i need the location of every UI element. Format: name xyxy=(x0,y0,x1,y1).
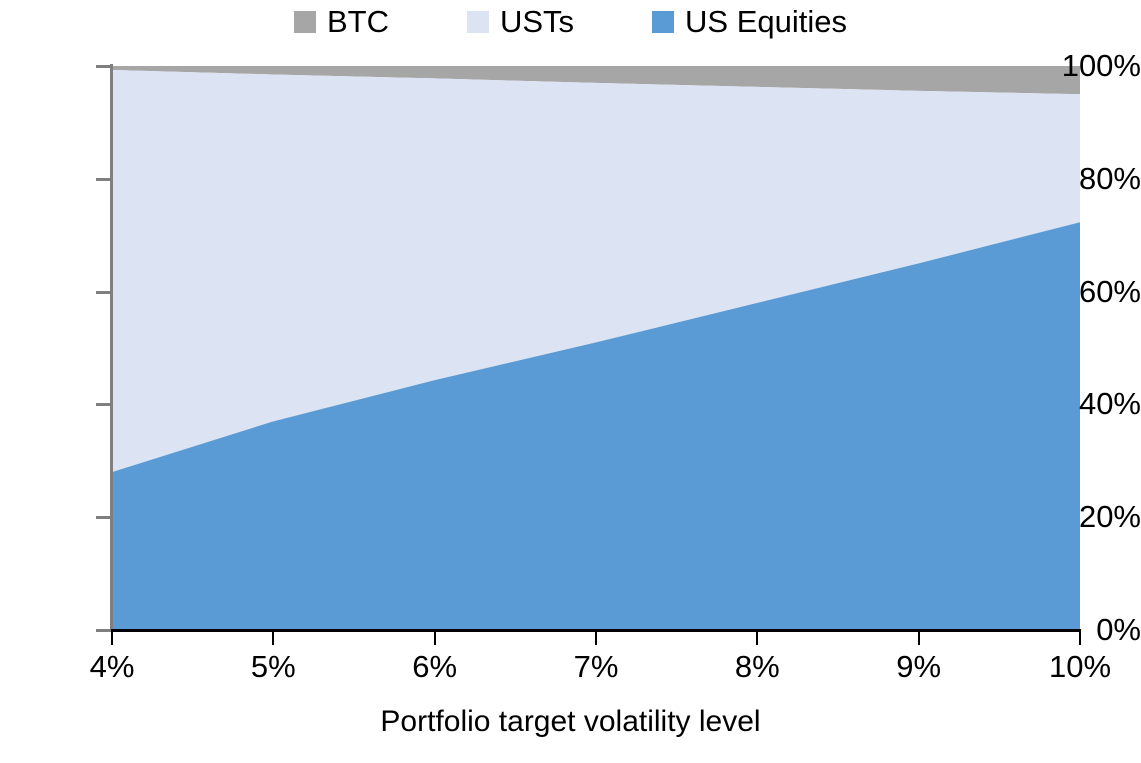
y-axis-line xyxy=(110,64,113,632)
x-axis-tick-label: 7% xyxy=(574,651,619,682)
y-axis-tick xyxy=(96,516,111,519)
x-axis-tick-label: 6% xyxy=(412,651,457,682)
legend-label-usts: USTs xyxy=(500,6,574,37)
y-axis-tick-label: 20% xyxy=(1049,501,1141,532)
square-swatch-icon xyxy=(294,11,316,33)
x-axis-tick-label: 10% xyxy=(1049,651,1111,682)
y-axis-tick-label: 0% xyxy=(1049,614,1141,645)
square-swatch-icon xyxy=(652,11,674,33)
x-axis-tick xyxy=(918,631,920,645)
y-axis-tick-label: 40% xyxy=(1049,388,1141,419)
legend-item-usts[interactable]: USTs xyxy=(467,6,574,37)
x-axis-tick-label: 9% xyxy=(896,651,941,682)
x-axis-tick xyxy=(1079,631,1081,645)
stacked-area-chart: BTC USTs US Equities 100%80%60%40%20%0% … xyxy=(0,0,1141,763)
x-axis-line xyxy=(96,629,1081,632)
x-axis-tick xyxy=(111,631,113,645)
series-canvas xyxy=(112,66,1080,630)
square-swatch-icon xyxy=(467,11,489,33)
legend-item-us-equities[interactable]: US Equities xyxy=(652,6,847,37)
x-axis-tick-label: 4% xyxy=(90,651,135,682)
legend-label-btc: BTC xyxy=(327,6,389,37)
legend-label-us-equities: US Equities xyxy=(685,6,847,37)
y-axis-tick xyxy=(96,403,111,406)
x-axis-tick xyxy=(756,631,758,645)
y-axis-tick xyxy=(96,65,111,68)
x-axis-tick-label: 8% xyxy=(735,651,780,682)
y-axis-tick xyxy=(96,291,111,294)
x-axis-tick xyxy=(272,631,274,645)
y-axis-tick-label: 80% xyxy=(1049,163,1141,194)
x-axis-title: Portfolio target volatility level xyxy=(0,707,1141,737)
x-axis-tick xyxy=(595,631,597,645)
legend-item-btc[interactable]: BTC xyxy=(294,6,389,37)
x-axis-tick-label: 5% xyxy=(251,651,296,682)
y-axis-tick-label: 100% xyxy=(1049,50,1141,81)
x-axis-tick xyxy=(434,631,436,645)
chart-legend: BTC USTs US Equities xyxy=(0,6,1141,37)
y-axis-tick xyxy=(96,178,111,181)
plot-area xyxy=(112,66,1080,630)
y-axis-tick xyxy=(96,629,111,632)
y-axis-tick-label: 60% xyxy=(1049,276,1141,307)
